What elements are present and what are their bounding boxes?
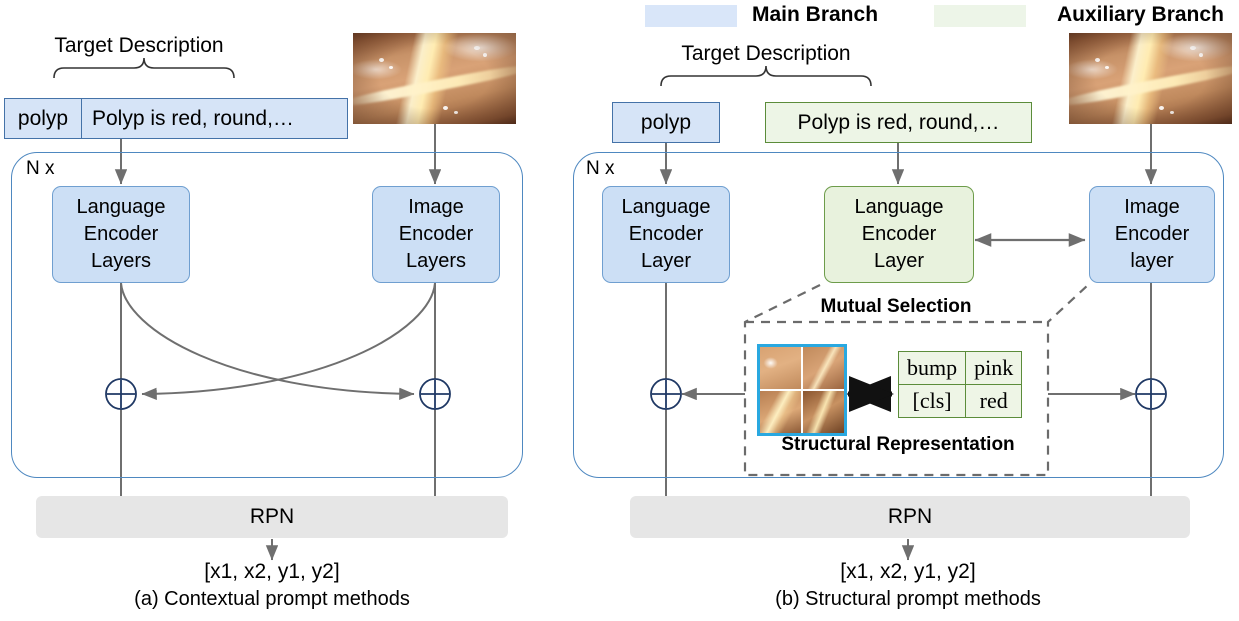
language-encoder-auxiliary-b[interactable]: Language Encoder Layer (824, 186, 974, 283)
language-encoder-aux-b-line3: Layer (874, 248, 924, 275)
language-encoder-a-line2: Encoder (84, 221, 159, 248)
caption-b: (b) Structural prompt methods (658, 588, 1158, 611)
brace-a (54, 58, 234, 78)
structural-representation-label: Structural Representation (746, 434, 1050, 456)
target-description-label-a: Target Description (33, 34, 245, 58)
caption-a: (a) Contextual prompt methods (22, 588, 522, 611)
attr-cell-1-1[interactable]: red (966, 385, 1022, 418)
attr-cell-1-0[interactable]: [cls] (899, 385, 966, 418)
repeat-label-b: N x (586, 158, 615, 180)
patch-bottom-right (803, 391, 844, 433)
image-encoder-a-line2: Encoder (399, 221, 474, 248)
image-encoder-a-line3: Layers (406, 248, 466, 275)
image-encoder-a-line1: Image (408, 194, 464, 221)
repeat-label-a: N x (26, 158, 55, 180)
legend-swatch-auxiliary-branch (934, 5, 1026, 27)
language-encoder-main-b-line1: Language (622, 194, 711, 221)
endoscopy-image-b (1069, 33, 1232, 124)
prompt-class-token-b[interactable]: polyp (612, 102, 720, 143)
legend-label-main-branch: Main Branch (752, 4, 878, 26)
attr-cell-0-1[interactable]: pink (966, 352, 1022, 385)
target-description-label-b: Target Description (660, 42, 872, 66)
image-encoder-b-line3: layer (1130, 248, 1173, 275)
table-row: [cls] red (899, 385, 1022, 418)
legend-label-auxiliary-branch: Auxiliary Branch (1057, 4, 1224, 26)
language-encoder-a-line3: Layers (91, 248, 151, 275)
language-encoder-a[interactable]: Language Encoder Layers (52, 186, 190, 283)
diagram-root: Main Branch Auxiliary Branch Target Desc… (0, 0, 1239, 621)
table-row: bump pink (899, 352, 1022, 385)
rpn-b[interactable]: RPN (630, 496, 1190, 538)
language-encoder-aux-b-line2: Encoder (862, 221, 937, 248)
patch-top-right (803, 347, 844, 389)
image-encoder-b-line2: Encoder (1115, 221, 1190, 248)
image-encoder-a[interactable]: Image Encoder Layers (372, 186, 500, 283)
mutual-selection-label: Mutual Selection (796, 296, 996, 318)
endoscopy-image-a (353, 33, 516, 124)
prompt-class-token-a[interactable]: polyp (4, 98, 82, 139)
prompt-description-b[interactable]: Polyp is red, round,… (765, 102, 1032, 143)
output-a: [x1, x2, y1, y2] (172, 560, 372, 584)
attribute-table: bump pink [cls] red (898, 351, 1022, 418)
brace-b (661, 66, 871, 86)
structural-patch-grid (757, 344, 847, 436)
language-encoder-main-b-line2: Encoder (629, 221, 704, 248)
image-encoder-b-line1: Image (1124, 194, 1180, 221)
output-b: [x1, x2, y1, y2] (808, 560, 1008, 584)
language-encoder-a-line1: Language (77, 194, 166, 221)
attr-cell-0-0[interactable]: bump (899, 352, 966, 385)
language-encoder-main-b-line3: Layer (641, 248, 691, 275)
patch-bottom-left (760, 391, 801, 433)
legend-swatch-main-branch (645, 5, 737, 27)
language-encoder-main-b[interactable]: Language Encoder Layer (602, 186, 730, 283)
image-encoder-b[interactable]: Image Encoder layer (1089, 186, 1215, 283)
rpn-a[interactable]: RPN (36, 496, 508, 538)
prompt-description-a[interactable]: Polyp is red, round,… (82, 98, 348, 139)
patch-top-left (760, 347, 801, 389)
language-encoder-aux-b-line1: Language (855, 194, 944, 221)
